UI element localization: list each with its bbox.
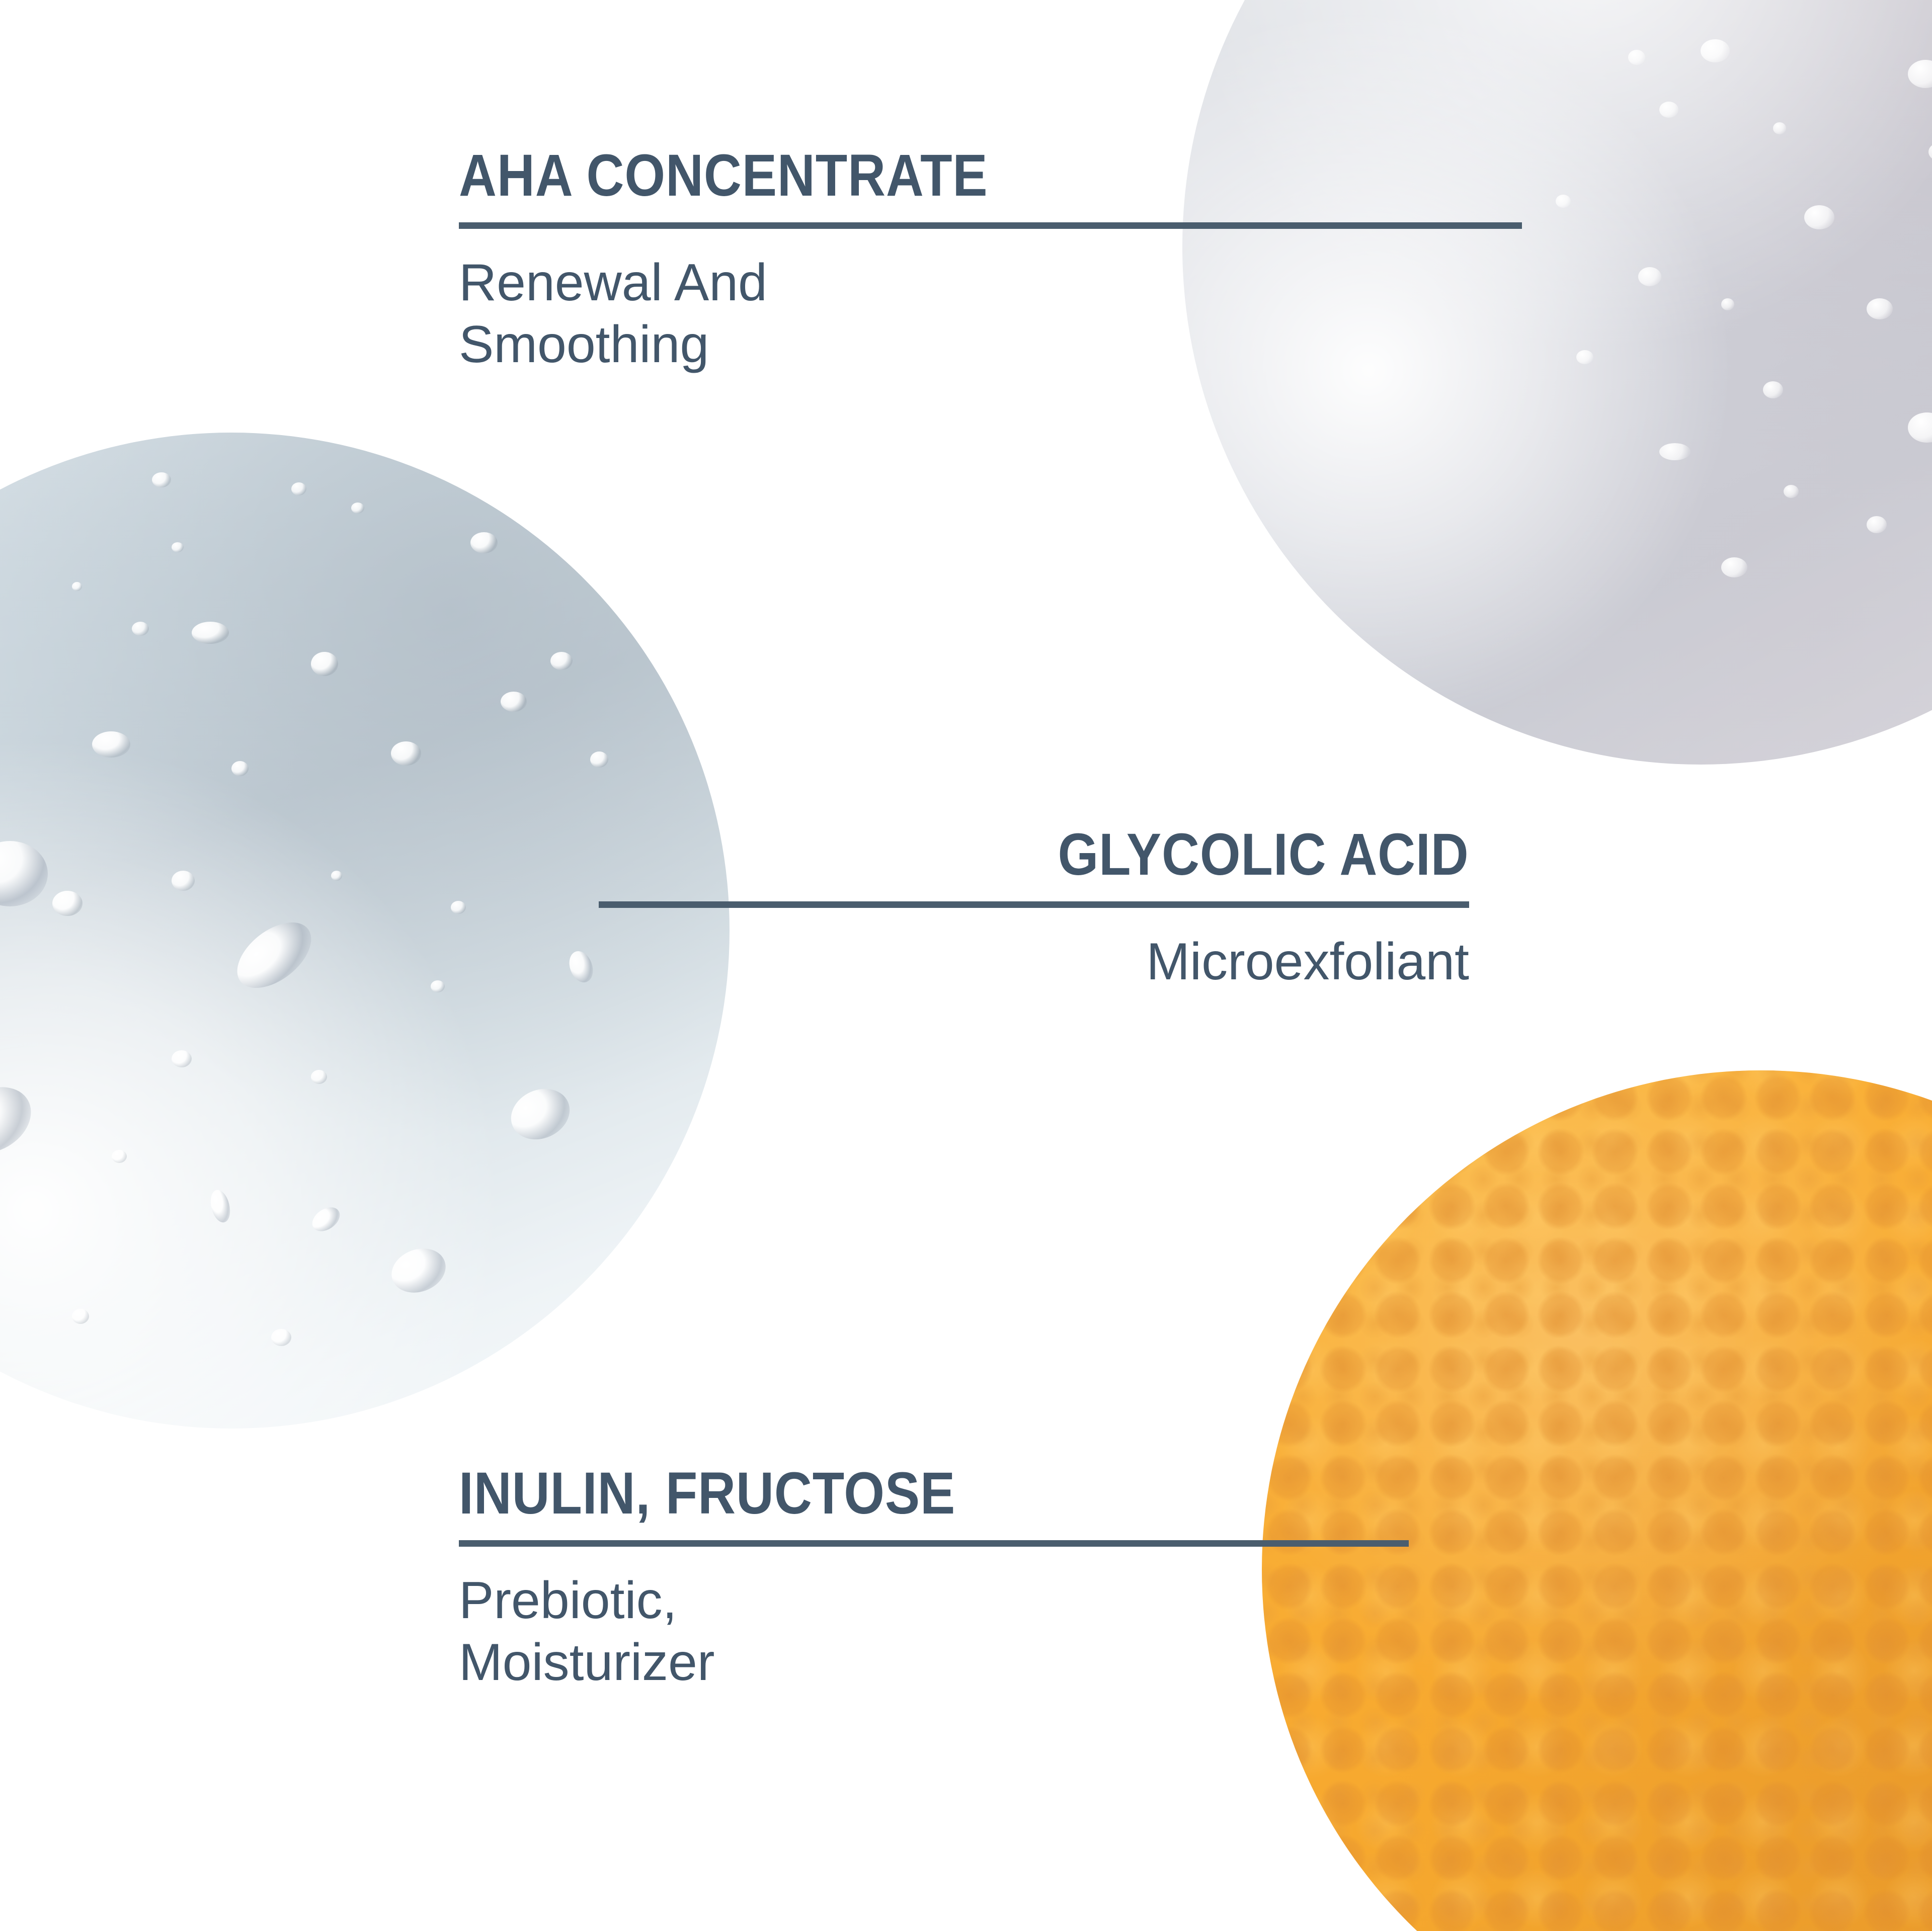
label-glycolic-acid: GLYCOLIC ACID Microexfoliant [599, 825, 1469, 993]
bubble-overlay-aha [1182, 0, 1932, 765]
label-aha-concentrate: AHA CONCENTRATE Renewal AndSmoothing [459, 146, 1522, 375]
glycolic-acid-title: GLYCOLIC ACID [1058, 825, 1469, 884]
inulin-fructose-title: INULIN, FRUCTOSE [459, 1464, 1295, 1523]
label-inulin-fructose: INULIN, FRUCTOSE Prebiotic,Moisturizer [459, 1464, 1409, 1693]
aha-divider-rule [459, 222, 1522, 229]
aha-concentrate-subtitle: Renewal AndSmoothing [459, 252, 1522, 375]
inulin-fructose-subtitle: Prebiotic,Moisturizer [459, 1570, 1409, 1693]
glycolic-divider-rule [599, 901, 1469, 908]
glycolic-acid-subtitle: Microexfoliant [599, 931, 1469, 993]
aha-concentrate-title: AHA CONCENTRATE [459, 146, 1394, 205]
clear-gel-swatch [1182, 0, 1932, 765]
ingredient-infographic: AHA CONCENTRATE Renewal AndSmoothing GLY… [0, 0, 1932, 1931]
inulin-divider-rule [459, 1540, 1409, 1547]
